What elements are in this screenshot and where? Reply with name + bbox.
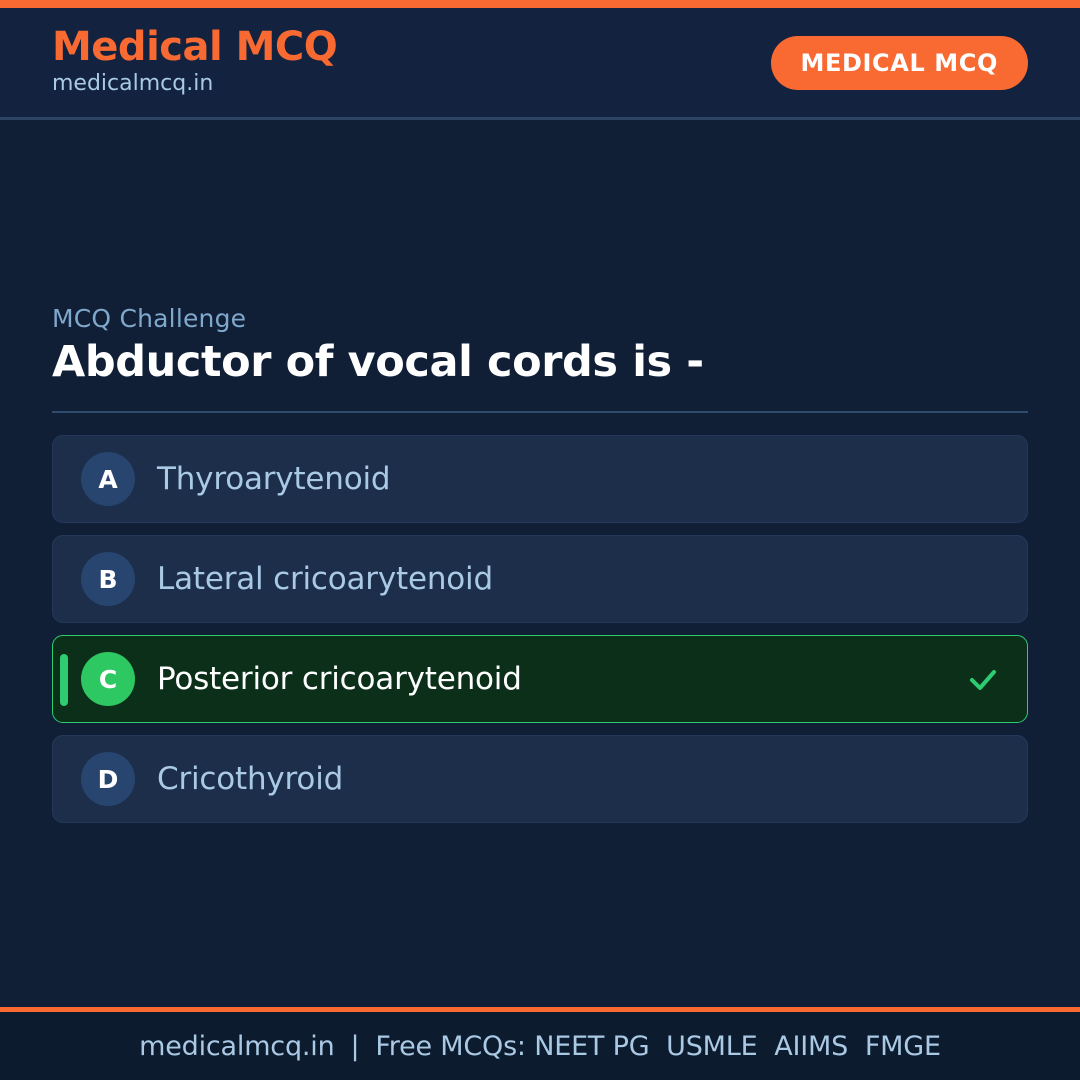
top-accent-bar [0,0,1080,8]
brand-title: Medical MCQ [52,26,337,68]
correct-accent-bar [60,654,68,706]
footer-separator: | [350,1031,359,1062]
question-area: MCQ Challenge Abductor of vocal cords is… [0,120,1080,1007]
option-label: Lateral cricoarytenoid [157,561,1001,597]
option-letter-badge: A [81,452,135,506]
options-list: A Thyroarytenoid B Lateral cricoarytenoi… [52,435,1028,823]
option-label: Posterior cricoarytenoid [157,661,965,697]
question-kicker: MCQ Challenge [52,304,1028,333]
option-a[interactable]: A Thyroarytenoid [52,435,1028,523]
brand-block: Medical MCQ medicalmcq.in [52,26,337,99]
option-letter-badge: B [81,552,135,606]
footer-site: medicalmcq.in [139,1031,334,1062]
option-letter-badge: D [81,752,135,806]
footer-exams: Free MCQs: NEET PG USMLE AIIMS FMGE [375,1031,940,1062]
mcq-card: Medical MCQ medicalmcq.in MEDICAL MCQ MC… [0,0,1080,1080]
check-icon [965,661,1001,697]
option-letter-badge: C [81,652,135,706]
page-footer: medicalmcq.in | Free MCQs: NEET PG USMLE… [0,1012,1080,1080]
brand-subtitle: medicalmcq.in [52,70,337,99]
page-header: Medical MCQ medicalmcq.in MEDICAL MCQ [0,8,1080,120]
question-title: Abductor of vocal cords is - [52,337,1028,388]
option-d[interactable]: D Cricothyroid [52,735,1028,823]
option-label: Cricothyroid [157,761,1001,797]
option-label: Thyroarytenoid [157,461,1001,497]
option-c[interactable]: C Posterior cricoarytenoid [52,635,1028,723]
option-b[interactable]: B Lateral cricoarytenoid [52,535,1028,623]
header-badge: MEDICAL MCQ [771,36,1028,90]
question-divider [52,411,1028,413]
